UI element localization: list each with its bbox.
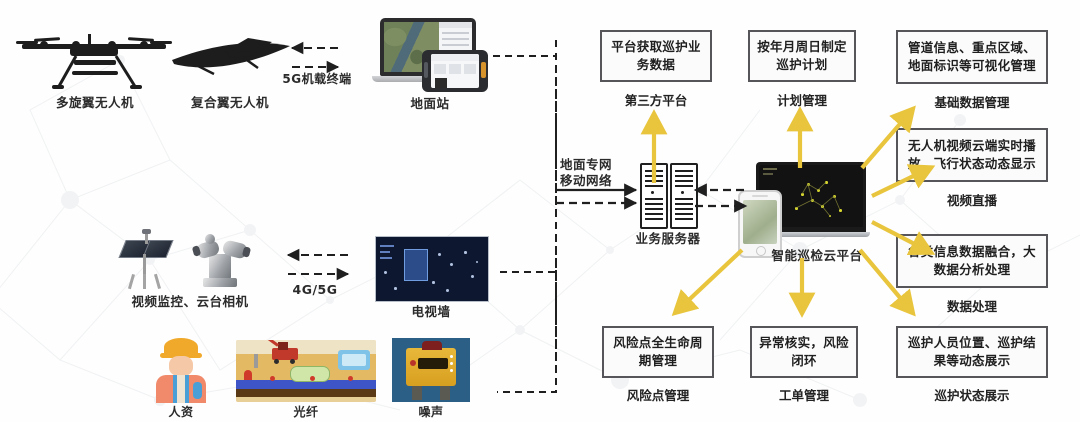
module-plan-management[interactable]: 按年月周日制定巡护计划 — [748, 30, 856, 82]
label-tv-wall: 电视墙 — [396, 304, 466, 320]
caption-risk-point: 风险点管理 — [602, 385, 714, 404]
business-server-icon — [640, 163, 696, 225]
label-cloud-platform: 智能巡检云平台 — [756, 248, 878, 264]
label-network-line1: 地面专网 — [560, 157, 612, 172]
caption-third-party-platform: 第三方平台 — [600, 90, 712, 109]
solar-video-monitor-icon — [112, 228, 178, 290]
module-risk-point[interactable]: 风险点全生命周期管理 — [602, 326, 714, 378]
caption-plan-management: 计划管理 — [748, 90, 856, 109]
vtol-uav-icon — [168, 30, 298, 88]
label-ground-station: 地面站 — [385, 96, 475, 112]
caption-patrol-status: 巡护状态展示 — [896, 385, 1048, 404]
cloud-platform-icon — [738, 162, 870, 254]
diagram-canvas: 多旋翼无人机 复合翼无人机 5G机载终端 — [0, 0, 1080, 422]
ground-station-icon — [372, 18, 490, 90]
multirotor-uav-icon — [14, 28, 174, 90]
caption-data-processing: 数据处理 — [896, 296, 1048, 315]
optical-fiber-icon — [236, 340, 376, 402]
caption-work-order: 工单管理 — [750, 385, 858, 404]
module-third-party-platform[interactable]: 平台获取巡护业务数据 — [600, 30, 712, 82]
caption-basic-data: 基础数据管理 — [896, 92, 1048, 111]
module-work-order[interactable]: 异常核实，风险闭环 — [750, 326, 858, 378]
personnel-icon — [146, 338, 216, 402]
label-business-server: 业务服务器 — [620, 231, 716, 247]
detector-icon — [392, 338, 470, 402]
label-multirotor-uav: 多旋翼无人机 — [40, 95, 150, 111]
ptz-camera-icon — [185, 230, 257, 290]
module-basic-data[interactable]: 管道信息、重点区域、地面标识等可视化管理 — [896, 30, 1048, 84]
label-personnel: 人资 — [141, 405, 221, 420]
module-video-live[interactable]: 无人机视频云端实时播放，飞行状态动态显示 — [896, 128, 1048, 182]
label-5g-airborne-terminal: 5G机载终端 — [282, 72, 352, 87]
label-vtol-uav: 复合翼无人机 — [175, 95, 285, 111]
module-patrol-status[interactable]: 巡护人员位置、巡护结果等动态展示 — [896, 326, 1048, 378]
label-network-line2: 移动网络 — [560, 173, 612, 188]
caption-video-live: 视频直播 — [896, 190, 1048, 209]
label-detector: 噪声 — [391, 405, 471, 420]
label-network-trunk: 地面专网 移动网络 — [560, 157, 634, 188]
label-optical-fiber: 光纤 — [266, 405, 346, 420]
label-4g-5g: 4G/5G — [284, 282, 346, 298]
module-data-processing[interactable]: 各类信息数据融合，大数据分析处理 — [896, 234, 1048, 288]
label-video-ptz: 视频监控、云台相机 — [110, 294, 270, 310]
tv-wall-icon — [375, 236, 489, 302]
